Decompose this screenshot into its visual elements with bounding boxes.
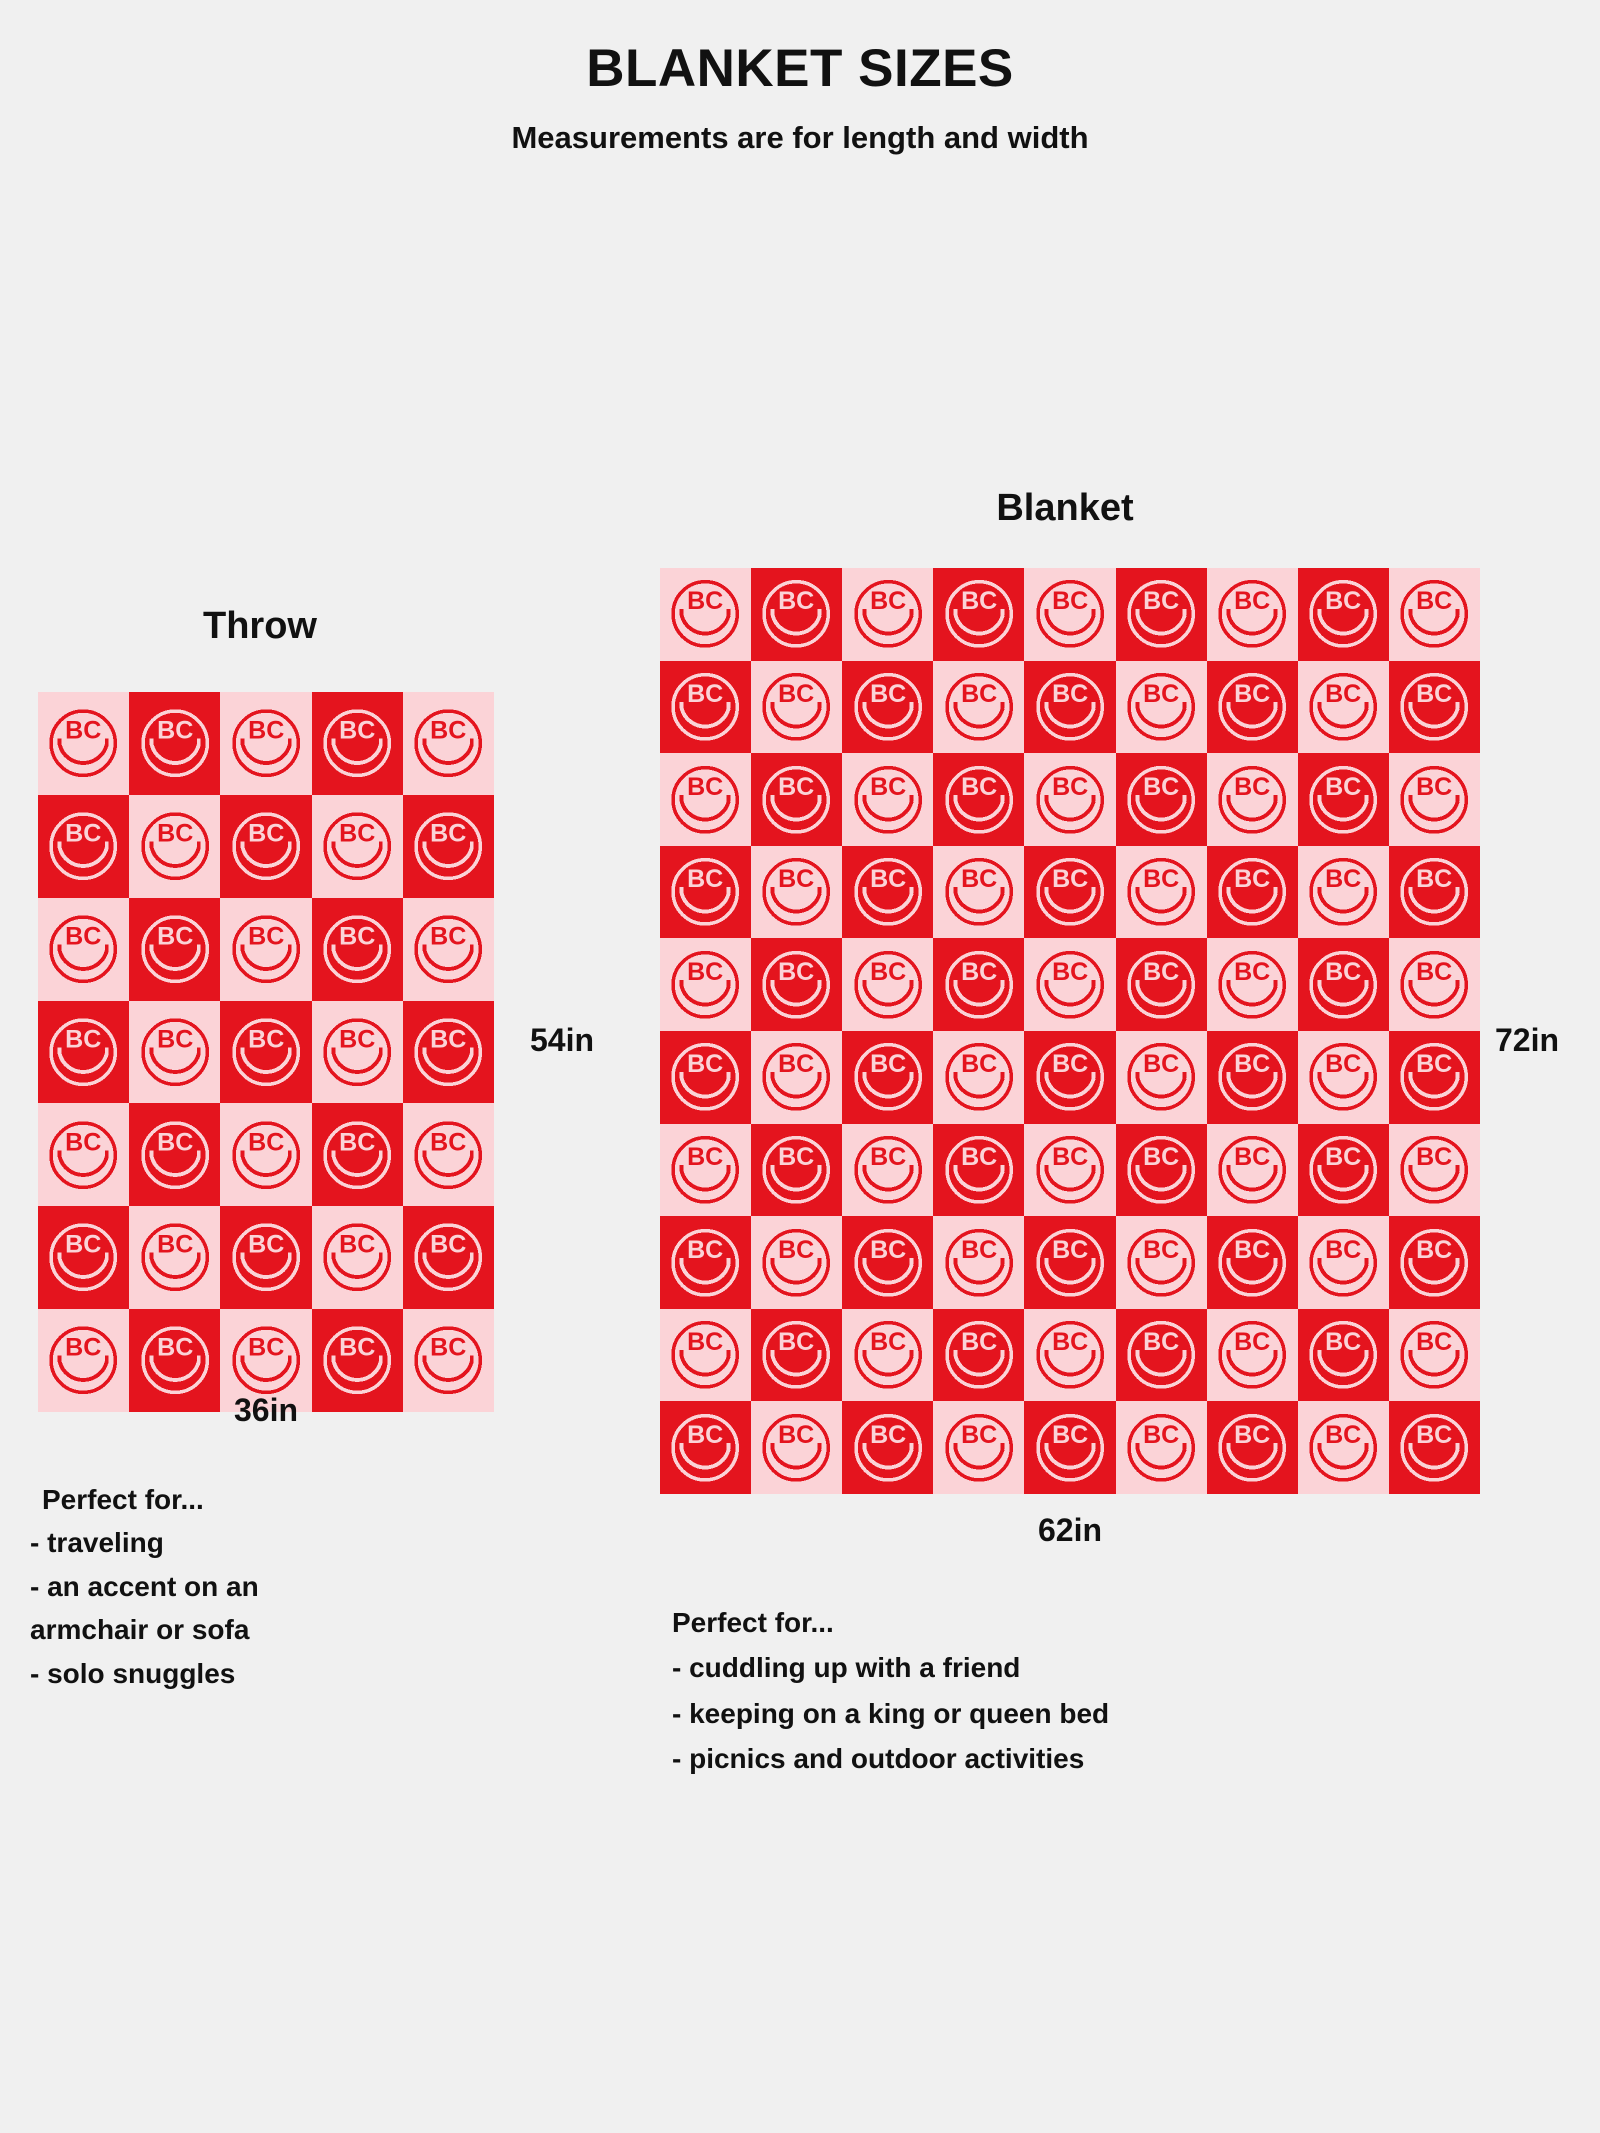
bc-smiley-icon: BC — [227, 1213, 305, 1301]
blanket-cell: BC — [1298, 1309, 1389, 1402]
motif-bc-text: BC — [157, 922, 193, 950]
motif-bc-text: BC — [248, 820, 284, 848]
motif-bc-text: BC — [157, 1334, 193, 1362]
bc-smiley-icon: BC — [757, 1037, 835, 1117]
bc-smiley-icon: BC — [1304, 945, 1382, 1025]
motif-bc-text: BC — [961, 1051, 997, 1079]
bc-smiley-icon: BC — [409, 905, 487, 993]
bc-smiley-icon: BC — [1213, 945, 1291, 1025]
blanket-cell: BC — [660, 661, 751, 754]
bc-smiley-icon: BC — [849, 574, 927, 654]
blanket-blanket-swatch: BCBCBCBCBCBCBCBCBCBCBCBCBCBCBCBCBCBCBCBC… — [660, 568, 1480, 1494]
bc-smiley-icon: BC — [757, 852, 835, 932]
bc-smiley-icon: BC — [940, 1037, 1018, 1117]
motif-bc-text: BC — [687, 1421, 723, 1449]
throw-width-label: 36in — [38, 1392, 494, 1429]
bc-smiley-icon: BC — [1304, 667, 1382, 747]
blanket-cell: BC — [312, 1001, 403, 1104]
motif-bc-text: BC — [870, 680, 906, 708]
blanket-cell: BC — [1207, 846, 1298, 939]
blanket-cell: BC — [933, 1401, 1024, 1494]
bc-smiley-icon: BC — [318, 1111, 396, 1199]
motif-bc-text: BC — [65, 820, 101, 848]
bc-smiley-icon: BC — [1213, 1408, 1291, 1488]
motif-bc-text: BC — [870, 1236, 906, 1264]
blanket-cell: BC — [220, 795, 311, 898]
blanket-cell: BC — [403, 1001, 494, 1104]
motif-bc-text: BC — [1234, 680, 1270, 708]
bc-smiley-icon: BC — [757, 1130, 835, 1210]
bc-smiley-icon: BC — [666, 1223, 744, 1303]
blanket-cell: BC — [842, 1031, 933, 1124]
bc-smiley-icon: BC — [849, 760, 927, 840]
blanket-cell: BC — [1116, 661, 1207, 754]
blanket-cell: BC — [403, 692, 494, 795]
motif-bc-text: BC — [1143, 773, 1179, 801]
motif-bc-text: BC — [779, 865, 815, 893]
bc-smiley-icon: BC — [409, 802, 487, 890]
motif-bc-text: BC — [339, 1334, 375, 1362]
throw-blanket-swatch: BCBCBCBCBCBCBCBCBCBCBCBCBCBCBCBCBCBCBCBC… — [38, 692, 494, 1412]
blanket-cell: BC — [1116, 846, 1207, 939]
blanket-cell: BC — [751, 568, 842, 661]
bc-smiley-icon: BC — [1031, 574, 1109, 654]
blanket-cell: BC — [1024, 1216, 1115, 1309]
bc-smiley-icon: BC — [849, 852, 927, 932]
blanket-cell: BC — [1298, 753, 1389, 846]
bc-smiley-icon: BC — [1304, 852, 1382, 932]
blanket-cell: BC — [1298, 1031, 1389, 1124]
bc-smiley-icon: BC — [666, 1130, 744, 1210]
motif-bc-text: BC — [779, 1143, 815, 1171]
motif-bc-text: BC — [687, 680, 723, 708]
blanket-cell: BC — [1298, 1401, 1389, 1494]
bc-smiley-icon: BC — [666, 1408, 744, 1488]
blanket-cell: BC — [220, 692, 311, 795]
blanket-cell: BC — [1116, 938, 1207, 1031]
bc-smiley-icon: BC — [318, 802, 396, 890]
bc-smiley-icon: BC — [666, 1315, 744, 1395]
motif-bc-text: BC — [1416, 680, 1452, 708]
motif-bc-text: BC — [1234, 1143, 1270, 1171]
motif-bc-text: BC — [1052, 958, 1088, 986]
motif-bc-text: BC — [157, 717, 193, 745]
blanket-cell: BC — [1207, 938, 1298, 1031]
motif-bc-text: BC — [1325, 1421, 1361, 1449]
blanket-cell: BC — [751, 1031, 842, 1124]
bc-smiley-icon: BC — [1395, 1315, 1473, 1395]
bc-smiley-icon: BC — [666, 852, 744, 932]
blanket-cell: BC — [660, 846, 751, 939]
blanket-cell: BC — [660, 753, 751, 846]
blanket-cell: BC — [38, 1001, 129, 1104]
bc-smiley-icon: BC — [227, 1008, 305, 1096]
bc-smiley-icon: BC — [1213, 1037, 1291, 1117]
blanket-cell: BC — [842, 1309, 933, 1402]
blanket-cell: BC — [1389, 753, 1480, 846]
blanket-cell: BC — [403, 1103, 494, 1206]
motif-bc-text: BC — [1416, 1236, 1452, 1264]
blanket-cell: BC — [842, 1401, 933, 1494]
motif-bc-text: BC — [1234, 773, 1270, 801]
bc-smiley-icon: BC — [757, 945, 835, 1025]
blanket-cell: BC — [1298, 938, 1389, 1031]
blanket-cell: BC — [38, 692, 129, 795]
blanket-cell: BC — [1024, 568, 1115, 661]
motif-bc-text: BC — [1052, 1051, 1088, 1079]
motif-bc-text: BC — [339, 1231, 375, 1259]
motif-bc-text: BC — [1416, 773, 1452, 801]
bc-smiley-icon: BC — [44, 1213, 122, 1301]
motif-bc-text: BC — [1416, 1328, 1452, 1356]
blanket-cell: BC — [1024, 1309, 1115, 1402]
blanket-cell: BC — [1207, 568, 1298, 661]
motif-bc-text: BC — [1325, 588, 1361, 616]
throw-product-title: Throw — [30, 605, 490, 648]
blanket-cell: BC — [1207, 1031, 1298, 1124]
bc-smiley-icon: BC — [940, 1408, 1018, 1488]
blanket-cell: BC — [1024, 753, 1115, 846]
bc-smiley-icon: BC — [1031, 1315, 1109, 1395]
bc-smiley-icon: BC — [757, 1408, 835, 1488]
perfect-for-heading: Perfect for... — [672, 1600, 1372, 1645]
blanket-cell: BC — [933, 1216, 1024, 1309]
blanket-cell: BC — [1024, 1031, 1115, 1124]
blanket-perfect-for-list: Perfect for...- cuddling up with a frien… — [672, 1600, 1372, 1781]
blanket-cell: BC — [1116, 1309, 1207, 1402]
perfect-for-item: armchair or sofa — [30, 1608, 450, 1651]
perfect-for-item: - an accent on an — [30, 1565, 450, 1608]
motif-bc-text: BC — [779, 680, 815, 708]
bc-smiley-icon: BC — [1031, 667, 1109, 747]
motif-bc-text: BC — [1143, 1421, 1179, 1449]
blanket-width-label: 62in — [660, 1512, 1480, 1549]
perfect-for-item: - cuddling up with a friend — [672, 1645, 1372, 1690]
motif-bc-text: BC — [1234, 1051, 1270, 1079]
blanket-cell: BC — [129, 795, 220, 898]
motif-bc-text: BC — [1052, 1143, 1088, 1171]
motif-bc-text: BC — [1234, 588, 1270, 616]
blanket-cell: BC — [660, 568, 751, 661]
motif-bc-text: BC — [339, 922, 375, 950]
blanket-cell: BC — [1389, 1031, 1480, 1124]
motif-bc-text: BC — [1143, 1236, 1179, 1264]
blanket-product-title: Blanket — [660, 487, 1470, 530]
bc-smiley-icon: BC — [1213, 1223, 1291, 1303]
bc-smiley-icon: BC — [1304, 1130, 1382, 1210]
motif-bc-text: BC — [1325, 1143, 1361, 1171]
bc-smiley-icon: BC — [136, 1213, 214, 1301]
motif-bc-text: BC — [1052, 865, 1088, 893]
bc-smiley-icon: BC — [1122, 1408, 1200, 1488]
blanket-cell: BC — [842, 1124, 933, 1217]
bc-smiley-icon: BC — [1031, 852, 1109, 932]
motif-bc-text: BC — [1416, 865, 1452, 893]
blanket-cell: BC — [933, 1309, 1024, 1402]
blanket-cell: BC — [1207, 1216, 1298, 1309]
motif-bc-text: BC — [430, 922, 466, 950]
motif-bc-text: BC — [870, 1143, 906, 1171]
motif-bc-text: BC — [339, 717, 375, 745]
page-subtitle: Measurements are for length and width — [0, 120, 1600, 156]
blanket-cell: BC — [38, 1103, 129, 1206]
motif-bc-text: BC — [339, 820, 375, 848]
bc-smiley-icon: BC — [757, 1223, 835, 1303]
motif-bc-text: BC — [430, 1231, 466, 1259]
bc-smiley-icon: BC — [1213, 574, 1291, 654]
bc-smiley-icon: BC — [666, 945, 744, 1025]
motif-bc-text: BC — [687, 958, 723, 986]
bc-smiley-icon: BC — [849, 1315, 927, 1395]
bc-smiley-icon: BC — [757, 1315, 835, 1395]
bc-smiley-icon: BC — [1031, 1130, 1109, 1210]
motif-bc-text: BC — [961, 1236, 997, 1264]
bc-smiley-icon: BC — [44, 905, 122, 993]
motif-bc-text: BC — [870, 1421, 906, 1449]
motif-bc-text: BC — [1143, 865, 1179, 893]
motif-bc-text: BC — [65, 1334, 101, 1362]
blanket-cell: BC — [312, 795, 403, 898]
blanket-cell: BC — [1389, 1401, 1480, 1494]
bc-smiley-icon: BC — [1304, 1223, 1382, 1303]
motif-bc-text: BC — [1143, 1143, 1179, 1171]
blanket-cell: BC — [1207, 1309, 1298, 1402]
motif-bc-text: BC — [248, 922, 284, 950]
motif-bc-text: BC — [339, 1025, 375, 1053]
blanket-cell: BC — [751, 1124, 842, 1217]
blanket-cell: BC — [751, 1309, 842, 1402]
bc-smiley-icon: BC — [1395, 760, 1473, 840]
bc-smiley-icon: BC — [1122, 760, 1200, 840]
bc-smiley-icon: BC — [136, 1008, 214, 1096]
bc-smiley-icon: BC — [1031, 760, 1109, 840]
perfect-for-item: - picnics and outdoor activities — [672, 1736, 1372, 1781]
bc-smiley-icon: BC — [1122, 1037, 1200, 1117]
bc-smiley-icon: BC — [940, 667, 1018, 747]
blanket-cell: BC — [751, 938, 842, 1031]
bc-smiley-icon: BC — [666, 667, 744, 747]
motif-bc-text: BC — [779, 1421, 815, 1449]
bc-smiley-icon: BC — [940, 852, 1018, 932]
blanket-cell: BC — [1024, 846, 1115, 939]
motif-bc-text: BC — [870, 1328, 906, 1356]
bc-smiley-icon: BC — [757, 574, 835, 654]
blanket-cell: BC — [220, 1103, 311, 1206]
bc-smiley-icon: BC — [136, 1111, 214, 1199]
blanket-cell: BC — [660, 1124, 751, 1217]
perfect-for-item: - keeping on a king or queen bed — [672, 1691, 1372, 1736]
bc-smiley-icon: BC — [409, 1111, 487, 1199]
bc-smiley-icon: BC — [409, 1213, 487, 1301]
bc-smiley-icon: BC — [318, 699, 396, 787]
motif-bc-text: BC — [430, 1128, 466, 1156]
blanket-cell: BC — [1389, 1216, 1480, 1309]
blanket-cell: BC — [751, 1216, 842, 1309]
blanket-cell: BC — [312, 692, 403, 795]
bc-smiley-icon: BC — [227, 699, 305, 787]
blanket-cell: BC — [933, 661, 1024, 754]
blanket-cell: BC — [933, 938, 1024, 1031]
motif-bc-text: BC — [779, 1051, 815, 1079]
blanket-cell: BC — [1298, 1216, 1389, 1309]
blanket-cell: BC — [842, 938, 933, 1031]
bc-smiley-icon: BC — [940, 945, 1018, 1025]
bc-smiley-icon: BC — [227, 905, 305, 993]
motif-bc-text: BC — [1325, 773, 1361, 801]
motif-bc-text: BC — [687, 588, 723, 616]
bc-smiley-icon: BC — [757, 667, 835, 747]
blanket-cell: BC — [933, 568, 1024, 661]
motif-bc-text: BC — [65, 1231, 101, 1259]
motif-bc-text: BC — [248, 1231, 284, 1259]
blanket-cell: BC — [751, 846, 842, 939]
throw-perfect-for-list: Perfect for...- traveling- an accent on … — [30, 1478, 450, 1695]
motif-bc-text: BC — [1143, 680, 1179, 708]
motif-bc-text: BC — [430, 1334, 466, 1362]
motif-bc-text: BC — [1052, 773, 1088, 801]
bc-smiley-icon: BC — [1031, 1223, 1109, 1303]
blanket-cell: BC — [933, 1031, 1024, 1124]
bc-smiley-icon: BC — [1395, 852, 1473, 932]
motif-bc-text: BC — [1325, 865, 1361, 893]
bc-smiley-icon: BC — [1122, 1223, 1200, 1303]
blanket-cell: BC — [842, 1216, 933, 1309]
blanket-cell: BC — [1116, 1401, 1207, 1494]
blanket-cell: BC — [1389, 938, 1480, 1031]
motif-bc-text: BC — [248, 717, 284, 745]
motif-bc-text: BC — [961, 958, 997, 986]
motif-bc-text: BC — [961, 1328, 997, 1356]
blanket-cell: BC — [1116, 568, 1207, 661]
blanket-cell: BC — [1116, 1124, 1207, 1217]
motif-bc-text: BC — [1325, 1236, 1361, 1264]
page-title: BLANKET SIZES — [0, 40, 1600, 98]
motif-bc-text: BC — [779, 1236, 815, 1264]
bc-smiley-icon: BC — [1304, 760, 1382, 840]
motif-bc-text: BC — [1052, 1236, 1088, 1264]
bc-smiley-icon: BC — [666, 1037, 744, 1117]
blanket-cell: BC — [933, 846, 1024, 939]
bc-smiley-icon: BC — [1395, 1037, 1473, 1117]
motif-bc-text: BC — [870, 1051, 906, 1079]
motif-bc-text: BC — [157, 820, 193, 848]
blanket-cell: BC — [751, 1401, 842, 1494]
motif-bc-text: BC — [430, 1025, 466, 1053]
motif-bc-text: BC — [1416, 1143, 1452, 1171]
motif-bc-text: BC — [248, 1128, 284, 1156]
bc-smiley-icon: BC — [1304, 1315, 1382, 1395]
motif-bc-text: BC — [1052, 680, 1088, 708]
motif-bc-text: BC — [65, 1025, 101, 1053]
blanket-cell: BC — [1024, 938, 1115, 1031]
blanket-cell: BC — [38, 898, 129, 1001]
motif-bc-text: BC — [157, 1128, 193, 1156]
motif-bc-text: BC — [1234, 1236, 1270, 1264]
bc-smiley-icon: BC — [44, 802, 122, 890]
blanket-cell: BC — [1389, 1124, 1480, 1217]
motif-bc-text: BC — [961, 773, 997, 801]
blanket-cell: BC — [129, 1103, 220, 1206]
bc-smiley-icon: BC — [849, 1037, 927, 1117]
motif-bc-text: BC — [430, 820, 466, 848]
blanket-cell: BC — [403, 795, 494, 898]
motif-bc-text: BC — [687, 1143, 723, 1171]
bc-smiley-icon: BC — [849, 945, 927, 1025]
blanket-cell: BC — [220, 1206, 311, 1309]
motif-bc-text: BC — [1052, 1328, 1088, 1356]
motif-bc-text: BC — [687, 865, 723, 893]
motif-bc-text: BC — [1325, 958, 1361, 986]
motif-bc-text: BC — [870, 958, 906, 986]
blanket-cell: BC — [129, 1206, 220, 1309]
bc-smiley-icon: BC — [940, 574, 1018, 654]
bc-smiley-icon: BC — [940, 1315, 1018, 1395]
motif-bc-text: BC — [157, 1025, 193, 1053]
blanket-cell: BC — [751, 753, 842, 846]
bc-smiley-icon: BC — [1304, 1037, 1382, 1117]
blanket-cell: BC — [660, 1031, 751, 1124]
bc-smiley-icon: BC — [849, 667, 927, 747]
motif-bc-text: BC — [779, 588, 815, 616]
perfect-for-item: - solo snuggles — [30, 1652, 450, 1695]
bc-smiley-icon: BC — [1304, 1408, 1382, 1488]
bc-smiley-icon: BC — [44, 1008, 122, 1096]
motif-bc-text: BC — [65, 1128, 101, 1156]
motif-bc-text: BC — [961, 1143, 997, 1171]
bc-smiley-icon: BC — [136, 905, 214, 993]
blanket-cell: BC — [1024, 1401, 1115, 1494]
blanket-cell: BC — [1116, 753, 1207, 846]
motif-bc-text: BC — [1234, 865, 1270, 893]
bc-smiley-icon: BC — [849, 1223, 927, 1303]
bc-smiley-icon: BC — [940, 760, 1018, 840]
blanket-cell: BC — [1389, 568, 1480, 661]
blanket-cell: BC — [1389, 661, 1480, 754]
motif-bc-text: BC — [1416, 1051, 1452, 1079]
bc-smiley-icon: BC — [1213, 760, 1291, 840]
blanket-cell: BC — [220, 1001, 311, 1104]
bc-smiley-icon: BC — [1213, 852, 1291, 932]
throw-height-label: 54in — [530, 1022, 594, 1059]
motif-bc-text: BC — [1325, 1051, 1361, 1079]
blanket-cell: BC — [1024, 1124, 1115, 1217]
motif-bc-text: BC — [339, 1128, 375, 1156]
blanket-height-label: 72in — [1495, 1022, 1559, 1059]
motif-bc-text: BC — [1143, 588, 1179, 616]
motif-bc-text: BC — [687, 1328, 723, 1356]
blanket-cell: BC — [1389, 1309, 1480, 1402]
bc-smiley-icon: BC — [44, 1111, 122, 1199]
bc-smiley-icon: BC — [409, 699, 487, 787]
bc-smiley-icon: BC — [1031, 945, 1109, 1025]
blanket-cell: BC — [312, 1206, 403, 1309]
motif-bc-text: BC — [961, 865, 997, 893]
bc-smiley-icon: BC — [1395, 574, 1473, 654]
blanket-cell: BC — [1298, 568, 1389, 661]
bc-smiley-icon: BC — [1122, 667, 1200, 747]
bc-smiley-icon: BC — [1213, 1130, 1291, 1210]
blanket-cell: BC — [38, 795, 129, 898]
motif-bc-text: BC — [65, 922, 101, 950]
bc-smiley-icon: BC — [1395, 1130, 1473, 1210]
bc-smiley-icon: BC — [849, 1130, 927, 1210]
bc-smiley-icon: BC — [318, 1008, 396, 1096]
blanket-cell: BC — [38, 1206, 129, 1309]
bc-smiley-icon: BC — [1395, 667, 1473, 747]
motif-bc-text: BC — [248, 1025, 284, 1053]
blanket-cell: BC — [1207, 1124, 1298, 1217]
motif-bc-text: BC — [248, 1334, 284, 1362]
